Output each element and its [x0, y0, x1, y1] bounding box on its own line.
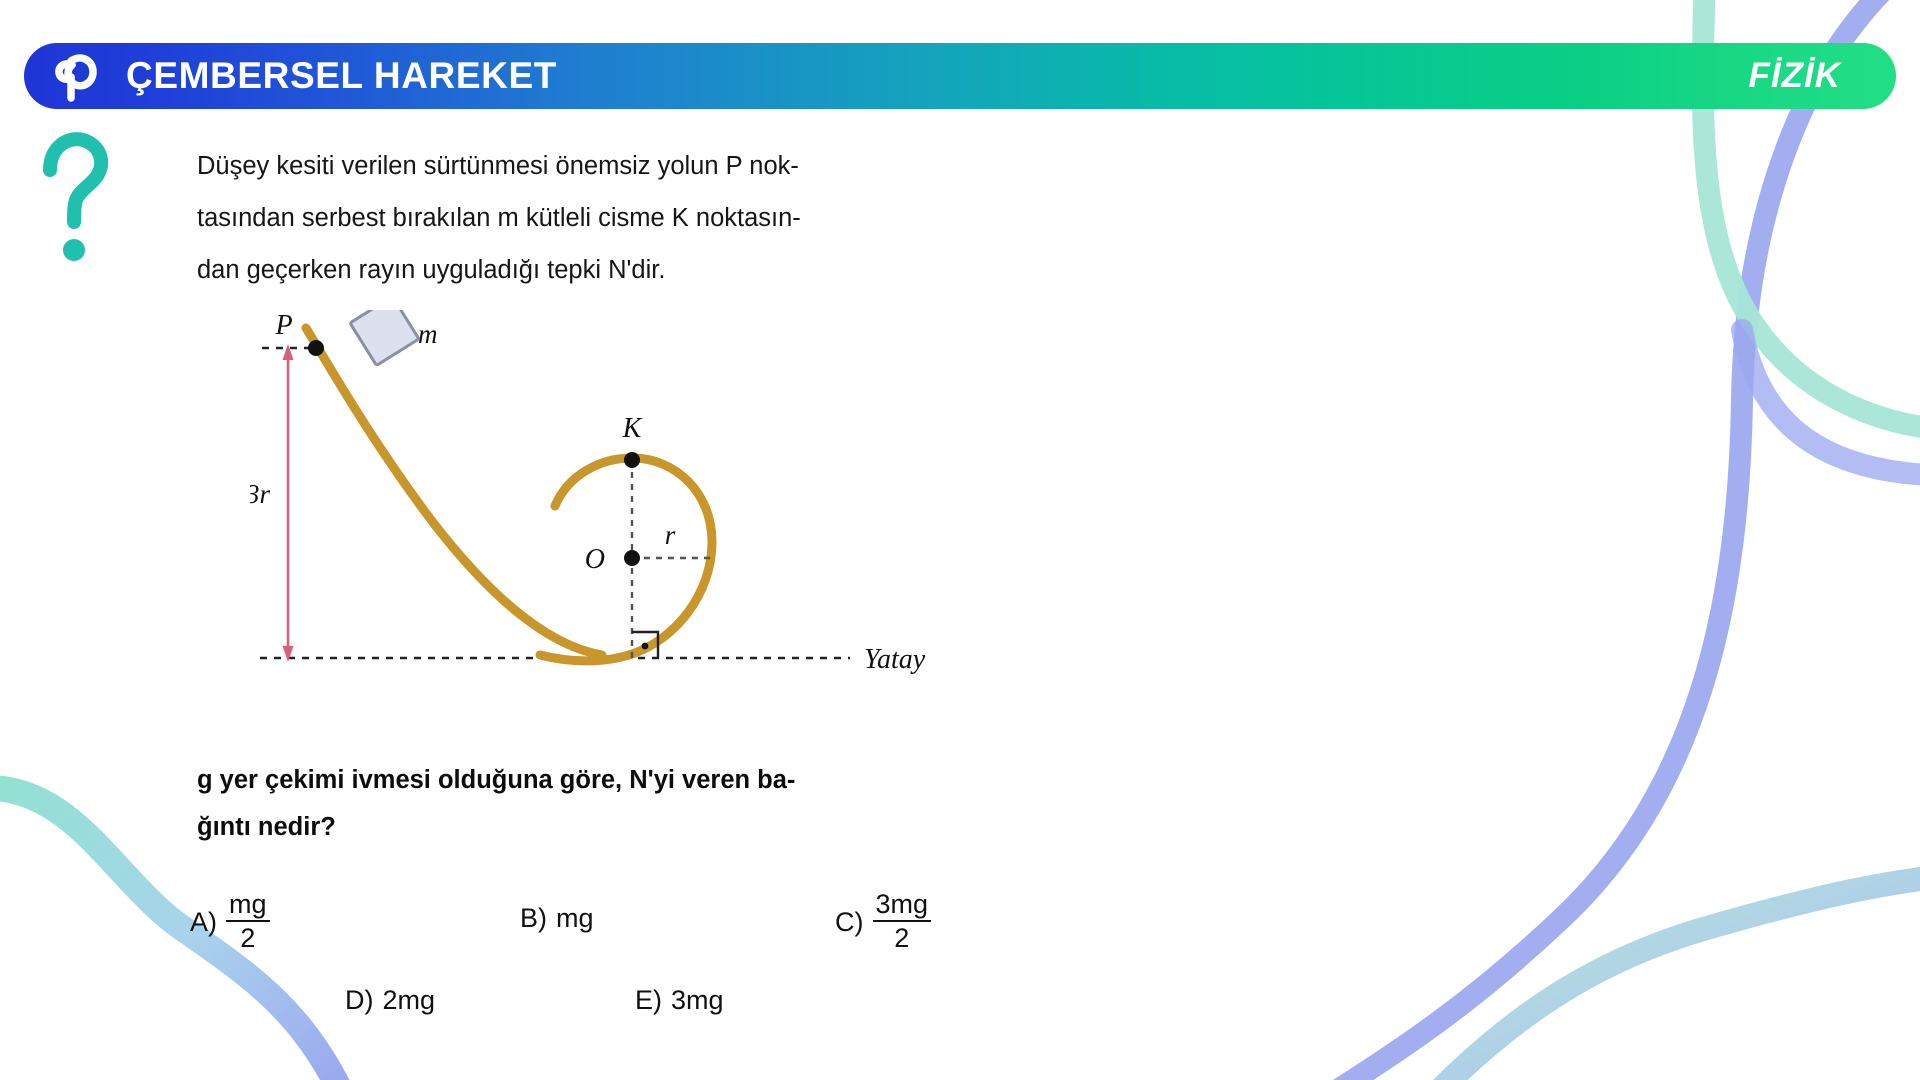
- label-yatay: Yatay: [864, 644, 926, 675]
- height-dimension-arrow: [283, 344, 294, 662]
- physics-diagram: 3r P m K O r Yatay: [250, 310, 950, 730]
- page-title: ÇEMBERSEL HAREKET: [126, 55, 557, 97]
- track-ramp: [306, 328, 602, 655]
- question-line-2: tasından serbest bırakılan m kütleli cis…: [197, 192, 957, 244]
- option-a-denominator: 2: [240, 922, 255, 953]
- option-d-label: D): [345, 985, 374, 1016]
- option-e-label: E): [635, 985, 662, 1016]
- option-c-label: C): [835, 907, 864, 938]
- option-e[interactable]: E) 3mg: [635, 985, 724, 1016]
- option-a-value: mg 2: [226, 890, 270, 953]
- option-c[interactable]: C) 3mg 2: [835, 891, 931, 954]
- option-a-numerator: mg: [226, 890, 270, 922]
- prompt-line-1: g yer çekimi ivmesi olduğuna göre, N'yi …: [197, 757, 957, 804]
- label-o: O: [585, 544, 605, 575]
- height-label: 3r: [250, 479, 270, 509]
- subject-badge: FİZİK: [1749, 56, 1841, 96]
- option-a[interactable]: A) mg 2: [190, 891, 270, 954]
- point-p: [308, 340, 324, 356]
- label-p: P: [274, 310, 292, 341]
- option-b-label: B): [520, 903, 547, 934]
- label-k: K: [622, 413, 643, 444]
- question-mark-icon: [42, 132, 112, 272]
- prompt-line-2: ğıntı nedir?: [197, 804, 957, 851]
- p-logo-icon: [50, 49, 102, 103]
- option-d-value: 2mg: [383, 985, 436, 1016]
- option-c-denominator: 2: [894, 922, 909, 953]
- header-banner: ÇEMBERSEL HAREKET FİZİK: [24, 43, 1896, 109]
- question-line-3: dan geçerken rayın uyguladığı tepki N'di…: [197, 244, 957, 296]
- label-m: m: [418, 319, 438, 349]
- mass-block: [350, 310, 419, 365]
- answer-options: A) mg 2 B) mg C) 3mg 2 D) 2mg E) 3mg: [190, 885, 990, 1045]
- decor-curve-right-tall: [1330, 0, 1905, 1080]
- option-b-value: mg: [556, 903, 594, 934]
- option-a-label: A): [190, 907, 217, 938]
- question-line-1: Düşey kesiti verilen sürtünmesi önemsiz …: [197, 140, 957, 192]
- question-prompt: g yer çekimi ivmesi olduğuna göre, N'yi …: [197, 757, 957, 851]
- question-statement: Düşey kesiti verilen sürtünmesi önemsiz …: [197, 140, 957, 296]
- decor-curve-bottom-right: [1440, 875, 1920, 1080]
- option-c-value: 3mg 2: [873, 890, 932, 953]
- decor-curve-right-sweep: [1742, 330, 1920, 475]
- option-e-value: 3mg: [671, 985, 724, 1016]
- option-c-numerator: 3mg: [873, 890, 932, 922]
- label-r: r: [665, 520, 676, 550]
- option-b[interactable]: B) mg: [520, 903, 594, 934]
- point-o: [624, 550, 640, 566]
- point-k: [624, 452, 640, 468]
- option-d[interactable]: D) 2mg: [345, 985, 435, 1016]
